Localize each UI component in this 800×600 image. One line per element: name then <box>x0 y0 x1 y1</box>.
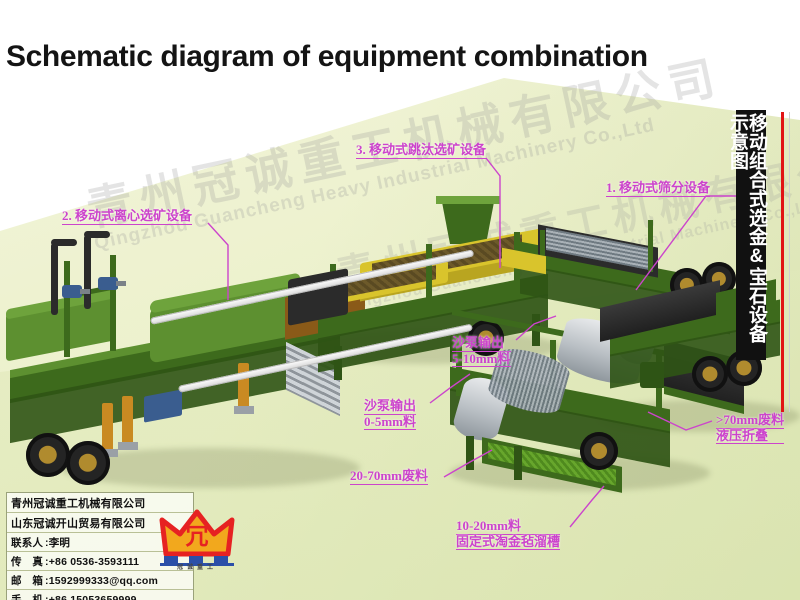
callout-sluice-line-1: 10-20mm料 <box>456 519 560 535</box>
callout-equip-3-line-1: 3. 移动式跳汰选矿设备 <box>356 143 486 159</box>
leader-equip-1 <box>636 196 742 290</box>
callout-equip-1-line-1: 1. 移动式筛分设备 <box>606 181 710 197</box>
callout-pump-out-5-10: 沙泵输出 5-10mm料 <box>452 336 511 367</box>
contact-value-fax: +86 0536-3593111 <box>49 556 140 568</box>
contact-value-mobile: +86 15053659999 <box>49 594 137 600</box>
leader-waste-20-70 <box>444 450 492 477</box>
vertical-banner: 移动组合式选金&宝石设备示意图 <box>736 110 766 360</box>
leader-equip-2 <box>208 223 228 300</box>
callout-waste-70-line-2: 液压折叠 <box>716 429 784 445</box>
logo-subtext: 冠诚重工 <box>160 562 234 571</box>
leader-waste-70 <box>648 412 712 430</box>
callout-equip-3: 3. 移动式跳汰选矿设备 <box>356 143 486 159</box>
leader-equip-3 <box>486 158 500 268</box>
contact-label-fax: 传 真 <box>11 554 45 569</box>
callout-waste-20-70: 20-70mm废料 <box>350 469 428 485</box>
leader-sluice-10-20 <box>570 486 604 527</box>
callout-waste-70-line-1: >70mm废料 <box>716 413 784 429</box>
contact-label-email: 邮 箱 <box>11 573 45 588</box>
contact-label-person: 联系人 <box>11 535 45 550</box>
page-title: Schematic diagram of equipment combinati… <box>6 40 648 74</box>
callout-waste-70: >70mm废料 液压折叠 <box>716 413 784 444</box>
contact-row-email[interactable]: 邮 箱:1592999333@qq.com <box>7 571 193 590</box>
callout-pump-5-10-line-1: 沙泵输出 <box>452 336 511 352</box>
contact-label-mobile: 手 机 <box>11 592 45 600</box>
logo-glyph: 冗 <box>186 524 209 550</box>
callout-sluice-line-2: 固定式淘金毡溜槽 <box>456 535 560 551</box>
callout-pump-out-0-5: 沙泵输出 0-5mm料 <box>364 399 416 430</box>
callout-pump-0-5-line-1: 沙泵输出 <box>364 399 416 415</box>
company-logo: 冗 冠诚重工 <box>158 508 236 570</box>
callout-sluice-10-20: 10-20mm料 固定式淘金毡溜槽 <box>456 519 560 550</box>
contact-value-person: 李明 <box>49 537 70 549</box>
gray-vertical-rule <box>789 112 790 412</box>
leader-pump-0-5 <box>430 374 470 403</box>
callout-equip-1: 1. 移动式筛分设备 <box>606 181 710 197</box>
callout-equip-2-line-1: 2. 移动式离心选矿设备 <box>62 209 192 225</box>
callout-pump-0-5-line-2: 0-5mm料 <box>364 415 416 431</box>
contact-value-email[interactable]: 1592999333@qq.com <box>49 575 158 587</box>
red-vertical-rule <box>781 112 784 412</box>
callout-pump-5-10-line-2: 5-10mm料 <box>452 352 511 368</box>
callout-equip-2: 2. 移动式离心选矿设备 <box>62 209 192 225</box>
contact-row-mobile: 手 机:+86 15053659999 <box>7 590 193 600</box>
callout-waste-20-70-line-1: 20-70mm废料 <box>350 469 428 485</box>
leader-pump-5-10 <box>516 316 556 340</box>
crown-icon: 冗 <box>158 508 236 570</box>
diagram-canvas: 青州冠诚重工机械有限公司 Qingzhou Guancheng Heavy In… <box>0 0 800 600</box>
